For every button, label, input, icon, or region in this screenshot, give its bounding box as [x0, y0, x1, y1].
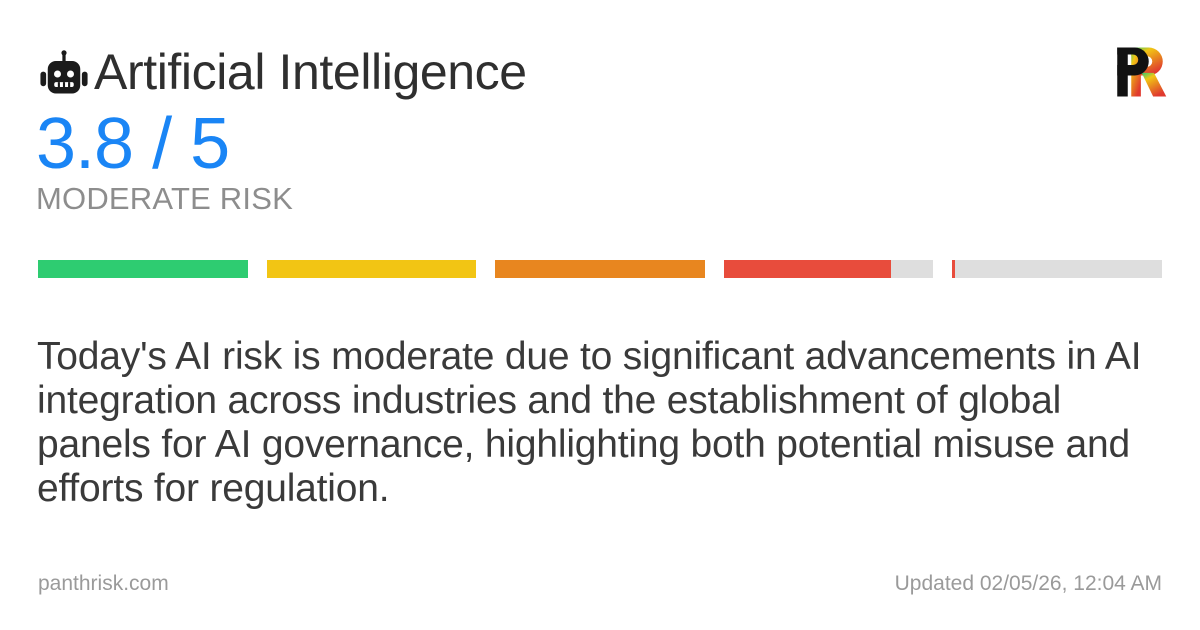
- segment-2-guarded-fill: [267, 260, 477, 278]
- segment-3-elevated-fill: [495, 260, 705, 278]
- segment-1-low: [38, 260, 248, 278]
- segment-4-high-fill: [724, 260, 892, 278]
- card-footer: panthrisk.com Updated 02/05/26, 12:04 AM: [38, 572, 1162, 596]
- risk-level-label: MODERATE RISK: [36, 183, 293, 216]
- risk-summary-text: Today's AI risk is moderate due to signi…: [37, 335, 1165, 511]
- page-title: Artificial Intelligence: [94, 47, 527, 97]
- risk-score-card: Artificial Intelligence 3.8 / 5 MODERATE…: [0, 0, 1200, 630]
- segment-5-severe-marker: [952, 260, 955, 278]
- score-block: 3.8 / 5 MODERATE RISK: [36, 108, 293, 216]
- segment-4-high: [724, 260, 934, 278]
- segment-3-elevated: [495, 260, 705, 278]
- segment-5-severe: [952, 260, 1162, 278]
- title-row: Artificial Intelligence: [38, 44, 1162, 100]
- robot-icon: [38, 48, 90, 100]
- site-url: panthrisk.com: [38, 572, 169, 596]
- panthrisk-logo-icon: [1112, 44, 1168, 100]
- updated-timestamp: Updated 02/05/26, 12:04 AM: [895, 572, 1162, 596]
- segment-2-guarded: [267, 260, 477, 278]
- score-value: 3.8 / 5: [36, 108, 293, 181]
- risk-meter: [38, 260, 1162, 278]
- segment-1-low-fill: [38, 260, 248, 278]
